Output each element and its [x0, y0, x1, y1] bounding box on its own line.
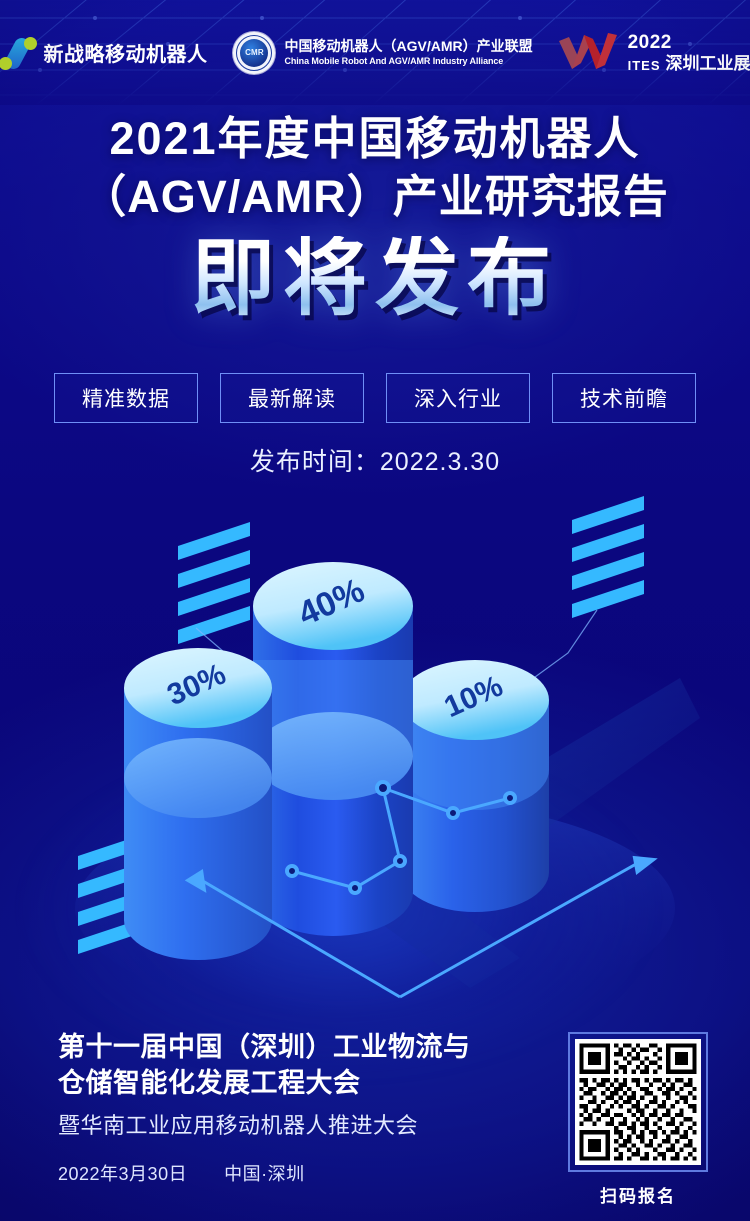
cylinder-bar-30: 30% — [124, 648, 272, 960]
trend-point-2 — [395, 856, 405, 866]
poster-title: 2021年度中国移动机器人 （AGV/AMR）产业研究报告 — [0, 110, 750, 225]
trend-point-3 — [377, 782, 389, 794]
ites-name-cn: 深圳工业展 — [666, 55, 750, 72]
qr-label: 扫码报名 — [568, 1182, 708, 1207]
feature-chip-1[interactable]: 最新解读 — [220, 373, 364, 423]
trend-point-5 — [505, 793, 515, 803]
hatch-decor-right — [572, 496, 644, 618]
release-time-text: 发布时间：2022.3.30 — [0, 442, 750, 478]
title-line-2: （AGV/AMR）产业研究报告 — [0, 168, 750, 226]
logo-ites: 2022 ITES 深圳工业展 — [546, 25, 750, 81]
xzl-logo-text: 新战略移动机器人 — [43, 38, 207, 67]
feature-chip-3[interactable]: 技术前瞻 — [552, 373, 696, 423]
qr-code-box[interactable] — [568, 1032, 708, 1172]
cmr-seal-text: CMR — [245, 48, 264, 57]
logo-cmr-alliance: CMR 中国移动机器人（AGV/AMR）产业联盟 China Mobile Ro… — [220, 25, 545, 81]
ites-chevron-svg — [559, 33, 621, 73]
ites-year: 2022 — [628, 33, 750, 52]
cmr-name-cn: 中国移动机器人（AGV/AMR）产业联盟 — [284, 38, 532, 56]
conference-subtitle: 暨华南工业应用移动机器人推进大会 — [58, 1109, 528, 1142]
conference-location: 中国·深圳 — [224, 1164, 305, 1184]
cmr-name-en: China Mobile Robot And AGV/AMR Industry … — [284, 55, 532, 67]
header-logo-bar: 新战略移动机器人 CMR 中国移动机器人（AGV/AMR）产业联盟 China … — [0, 0, 750, 105]
trend-point-4 — [448, 808, 458, 818]
footer-info: 第十一届中国（深圳）工业物流与 仓储智能化发展工程大会 暨华南工业应用移动机器人… — [58, 1030, 528, 1186]
conference-date: 2022年3月30日 — [58, 1164, 187, 1184]
ites-tag: ITES — [628, 59, 661, 72]
feature-chip-list: 精准数据 最新解读 深入行业 技术前瞻 — [0, 373, 750, 423]
hatch-decor-left-top — [178, 522, 250, 644]
poster-root: 新战略移动机器人 CMR 中国移动机器人（AGV/AMR）产业联盟 China … — [0, 0, 750, 1221]
cylinder-bar-10: 10% — [401, 660, 549, 912]
headline-coming-soon: 即将发布 — [0, 236, 750, 320]
trend-point-1 — [350, 883, 360, 893]
logo-xinzhanlue: 新战略移动机器人 — [0, 25, 220, 81]
title-line-1: 2021年度中国移动机器人 — [0, 110, 750, 168]
cmr-seal-icon: CMR — [233, 32, 275, 74]
feature-chip-0[interactable]: 精准数据 — [54, 373, 198, 423]
conference-line-1: 第十一届中国（深圳）工业物流与 — [58, 1030, 528, 1066]
xzl-molecule-icon — [0, 35, 37, 71]
conference-line-2: 仓储智能化发展工程大会 — [58, 1066, 528, 1102]
feature-chip-2[interactable]: 深入行业 — [386, 373, 530, 423]
trend-point-0 — [287, 866, 297, 876]
ites-chevron-icon — [559, 33, 621, 73]
chart-svg: 10% 40% 30% — [0, 488, 750, 1028]
cylinder-bar-40: 40% — [253, 562, 413, 936]
isometric-chart-illustration: 10% 40% 30% — [0, 488, 750, 1028]
qr-code-image — [575, 1039, 701, 1165]
